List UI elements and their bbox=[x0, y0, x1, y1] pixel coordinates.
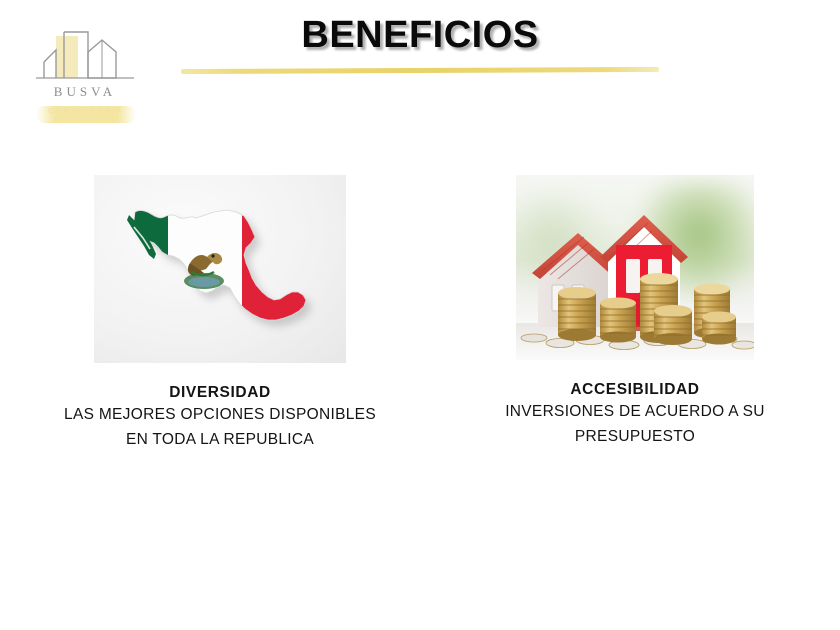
house-and-coins-illustration bbox=[516, 175, 754, 360]
mexico-map-flag-photo bbox=[94, 175, 346, 363]
logo-tagline-text: CONSULTORIA bbox=[36, 108, 136, 115]
benefit-card-diversidad: DIVERSIDAD LAS MEJORES OPCIONES DISPONIB… bbox=[30, 175, 410, 451]
logo-brand-text: BUSVA bbox=[30, 84, 140, 100]
benefit-caption: DIVERSIDAD LAS MEJORES OPCIONES DISPONIB… bbox=[30, 383, 410, 451]
mexico-map-shape bbox=[94, 175, 346, 363]
title-underline-rule bbox=[181, 67, 659, 74]
benefit-caption: ACCESIBILIDAD INVERSIONES DE ACUERDO A S… bbox=[460, 380, 810, 448]
benefit-body-line-1: LAS MEJORES OPCIONES DISPONIBLES bbox=[30, 404, 410, 426]
busva-building-mark-icon bbox=[30, 22, 140, 90]
benefit-body-line-1: INVERSIONES DE ACUERDO A SU bbox=[460, 401, 810, 423]
benefit-heading: DIVERSIDAD bbox=[30, 383, 410, 402]
benefit-body-line-2: PRESUPUESTO bbox=[460, 426, 810, 448]
slide-title: BENEFICIOS bbox=[180, 16, 660, 54]
brand-logo: BUSVA CONSULTORIA bbox=[30, 22, 140, 132]
house-and-coins-photo bbox=[516, 175, 754, 360]
benefit-card-accesibilidad: ACCESIBILIDAD INVERSIONES DE ACUERDO A S… bbox=[460, 175, 810, 448]
benefit-heading: ACCESIBILIDAD bbox=[460, 380, 810, 399]
benefit-body-line-2: EN TODA LA REPUBLICA bbox=[30, 429, 410, 451]
